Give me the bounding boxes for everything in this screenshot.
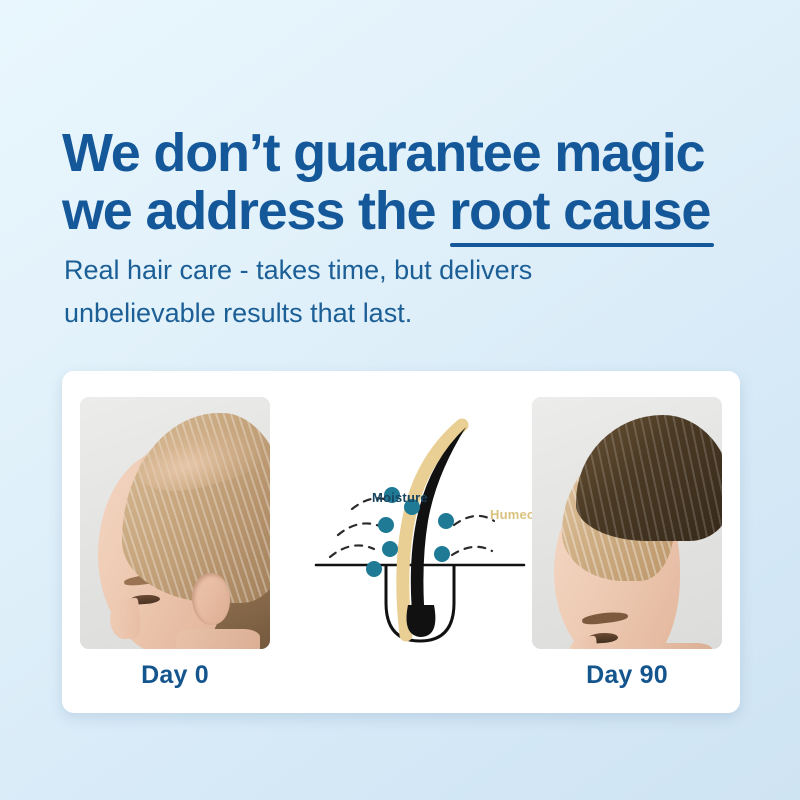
subheadline: Real hair care - takes time, but deliver… [64, 249, 704, 335]
portrait-day-0 [80, 397, 270, 649]
after-photo [532, 397, 722, 649]
humectant-arrows [452, 516, 494, 555]
before-caption: Day 0 [80, 661, 270, 690]
headline-emphasis-root-cause: root cause [449, 182, 710, 240]
subheadline-line-2: unbelievable results that last. [64, 292, 704, 335]
diagram-label-moisture: Moisture [372, 490, 428, 505]
headline-line-1: We don’t guarantee magic [62, 124, 762, 182]
headline-line-2-text: we address the [62, 181, 449, 241]
eyebrow [582, 610, 629, 626]
neck [632, 643, 712, 649]
subheadline-line-1: Real hair care - takes time, but deliver… [64, 249, 704, 292]
hair-follicle-diagram: Moisture Humectants [294, 397, 546, 649]
after-caption: Day 90 [532, 661, 722, 690]
neck [176, 629, 260, 649]
promo-poster: We don’t guarantee magic we address the … [0, 0, 800, 800]
ear [192, 573, 230, 625]
before-after-card: Day 0 [62, 371, 740, 713]
follicle-bulb [407, 605, 436, 637]
headline-line-2: we address the root cause [62, 182, 762, 240]
page-title: We don’t guarantee magic we address the … [62, 124, 762, 240]
before-photo [80, 397, 270, 649]
portrait-day-90 [532, 397, 722, 649]
